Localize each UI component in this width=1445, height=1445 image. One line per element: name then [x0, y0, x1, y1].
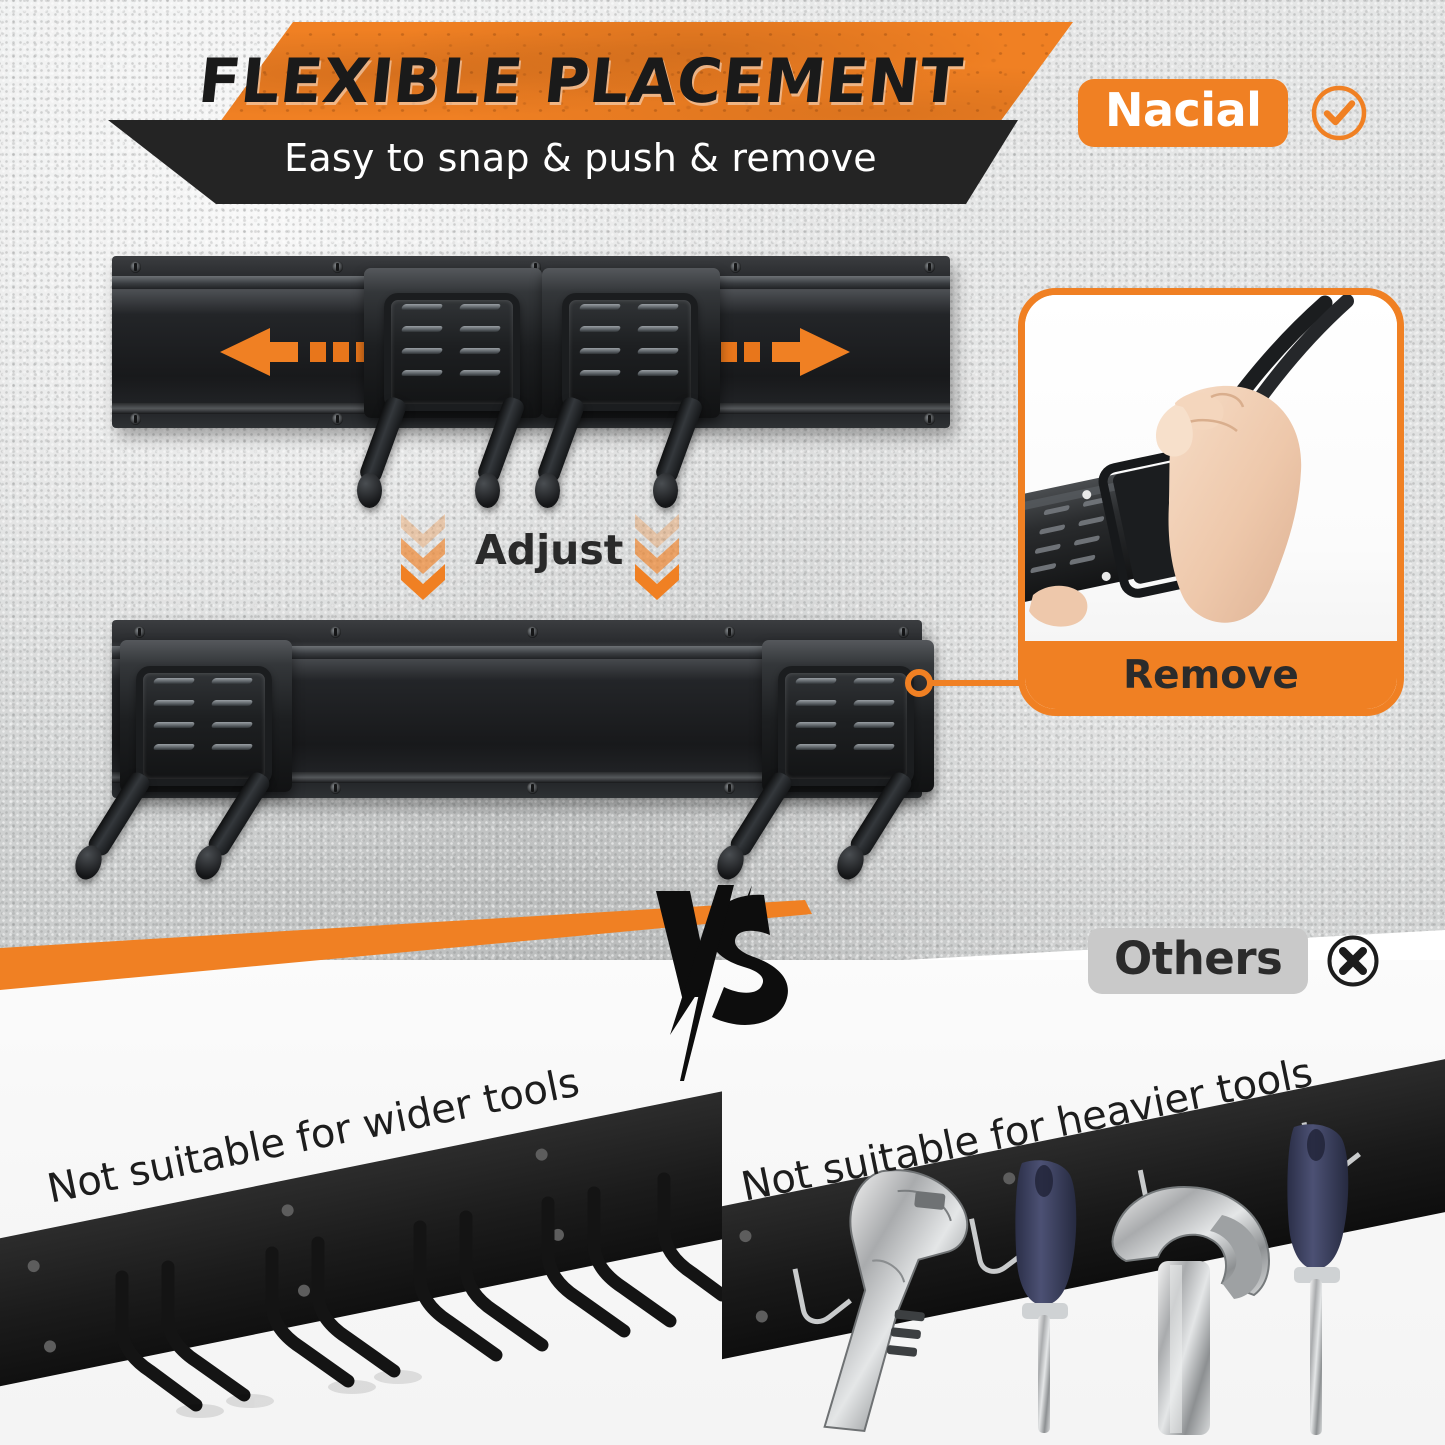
rail-screw [730, 261, 741, 273]
rail-screw [724, 626, 735, 638]
rail-screw [924, 413, 935, 425]
hook-prong-tip [475, 473, 500, 508]
hammer [1113, 1187, 1269, 1435]
rail-screw [724, 782, 735, 794]
header-banner: FLEXIBLE PLACEMENT Easy to snap & push &… [88, 22, 1073, 204]
remove-label: Remove [1123, 653, 1299, 698]
chevron-down-icon [395, 508, 451, 600]
tools-on-rack-illustration [722, 1015, 1445, 1445]
rail-screw [330, 782, 341, 794]
hook-bracket [384, 293, 520, 411]
rail-screw [332, 413, 343, 425]
product-infographic: FLEXIBLE PLACEMENT Easy to snap & push &… [0, 0, 1445, 1445]
rail-screw [898, 626, 909, 638]
callout-connector-line [932, 680, 1028, 686]
hand-removing-hook-illustration [1025, 295, 1397, 655]
rail-screw [134, 626, 145, 638]
rail-screw [332, 261, 343, 273]
hook-bracket [136, 666, 272, 786]
wire-hook-rack-illustration [0, 1015, 722, 1445]
hook-prong-tip [653, 473, 678, 508]
comparison-panel-wider-tools: Not suitable for wider tools [0, 1015, 722, 1445]
hook-bracket [778, 666, 914, 786]
others-badge-label: Others [1088, 928, 1308, 994]
banner-title: FLEXIBLE PLACEMENT [84, 46, 1076, 117]
rail-screw [130, 413, 141, 425]
rail-screw [130, 261, 141, 273]
rail-screw [527, 782, 538, 794]
brand-badge-label: Nacial [1078, 79, 1288, 147]
chevron-down-icon [629, 508, 685, 600]
rail-screw [924, 261, 935, 273]
hook-assembly [542, 268, 720, 418]
others-badge: Others [1088, 928, 1380, 994]
adjust-label: Adjust [475, 526, 605, 574]
arrow-left-icon [220, 326, 378, 378]
remove-label-bar: Remove [1025, 641, 1397, 709]
callout-anchor-dot [905, 669, 933, 697]
hook-bracket [562, 293, 698, 411]
remove-callout-panel: Remove [1018, 288, 1404, 716]
banner-subtitle: Easy to snap & push & remove [88, 136, 1073, 180]
comparison-panel-heavier-tools: Not suitable for heavier tools [722, 1015, 1445, 1445]
screwdriver [1287, 1124, 1348, 1435]
rack-photo-spread-hooks [62, 612, 960, 870]
hook-assembly [364, 268, 542, 418]
remove-photo [1025, 295, 1397, 655]
rail-screw [330, 626, 341, 638]
brand-badge: Nacial [1078, 79, 1368, 147]
hook-assembly [120, 640, 292, 792]
hook-assembly [762, 640, 934, 792]
x-circle-icon [1326, 934, 1380, 988]
adjust-indicator: Adjust [395, 508, 685, 600]
rail-screw [527, 626, 538, 638]
hook-prong-tip [535, 473, 560, 508]
rack-photo-centered-hooks [112, 248, 950, 493]
hook-prong-tip [357, 473, 382, 508]
check-circle-icon [1310, 84, 1368, 142]
